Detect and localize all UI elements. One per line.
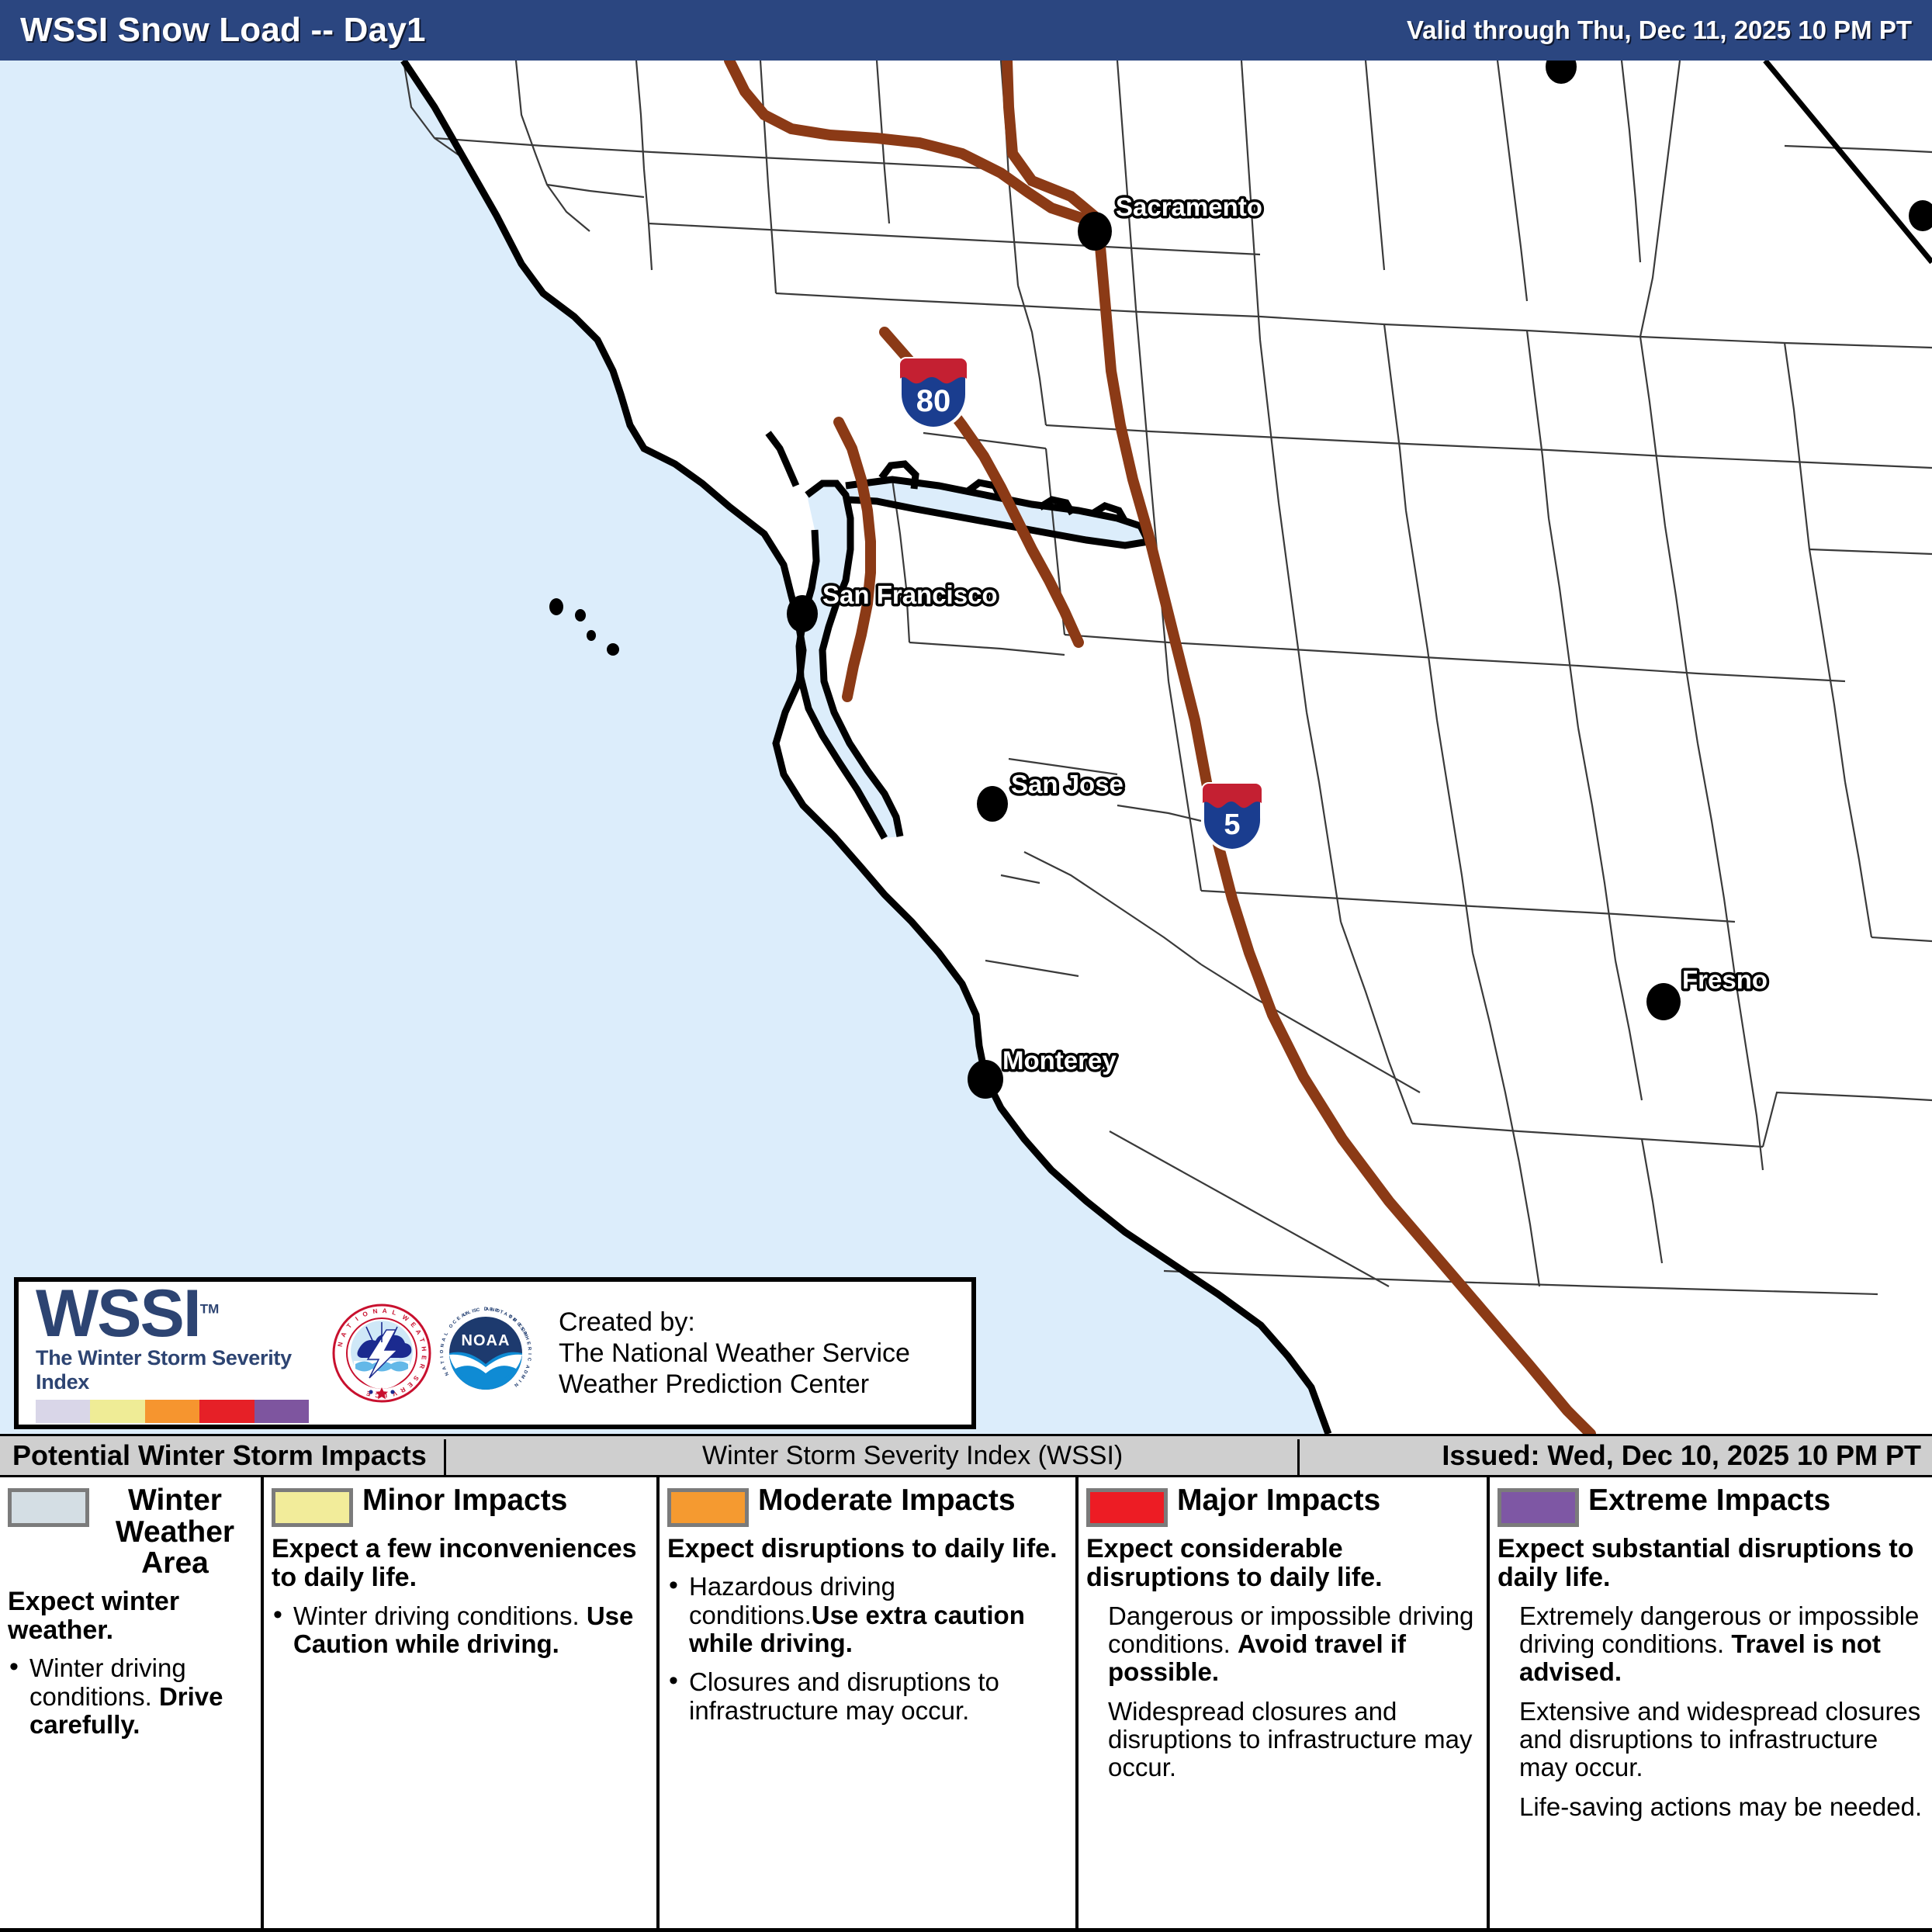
wssi-color-bar <box>36 1400 309 1423</box>
legend-bullet: Hazardous driving conditions.Use extra c… <box>667 1573 1066 1657</box>
national-weather-service-seal: N A T I O N A L W E A T H E R S E <box>332 1304 431 1403</box>
legend-column-winter-weather-area: Winter Weather Area Expect winter weathe… <box>0 1477 264 1928</box>
legend-title-major-impacts: Major Impacts <box>1177 1485 1380 1517</box>
city-label-san-jose: San Jose <box>1011 770 1124 798</box>
highway-shield-5: 5 <box>1203 784 1262 850</box>
legend-bullets-winter-weather-area: Winter driving conditions. Drive careful… <box>8 1654 251 1739</box>
svg-text:80: 80 <box>916 384 951 418</box>
legend-column-moderate-impacts: Moderate Impacts Expect disruptions to d… <box>660 1477 1079 1928</box>
legend-bullets-moderate-impacts: Hazardous driving conditions.Use extra c… <box>667 1573 1066 1724</box>
legend-title-winter-weather-area: Winter Weather Area <box>99 1485 251 1580</box>
legend-bullet: Extremely dangerous or impossible drivin… <box>1497 1602 1923 1687</box>
banner-center-text: Winter Storm Severity Index (WSSI) <box>702 1441 1123 1471</box>
title-bar: WSSI Snow Load -- Day1 Valid through Thu… <box>0 0 1932 61</box>
legend-bullet: Closures and disruptions to infrastructu… <box>667 1668 1066 1725</box>
city-label-sacramento: Sacramento <box>1116 192 1262 221</box>
created-by-line-1: Created by: <box>559 1307 910 1338</box>
wssi-map-page: WSSI Snow Load -- Day1 Valid through Thu… <box>0 0 1932 1932</box>
legend-summary-extreme-impacts: Expect substantial disruptions to daily … <box>1497 1535 1923 1593</box>
created-by-line-2: The National Weather Service <box>559 1338 910 1369</box>
banner-divider-1 <box>444 1439 446 1477</box>
legend-bullet: Life-saving actions may be needed. <box>1497 1793 1923 1821</box>
svg-text:H: H <box>420 1346 428 1352</box>
legend-bullets-minor-impacts: Winter driving conditions. Use Caution w… <box>272 1602 647 1659</box>
valid-through-text: Valid through Thu, Dec 11, 2025 10 PM PT <box>1407 16 1912 45</box>
svg-text:A: A <box>383 1307 388 1314</box>
legend-column-minor-impacts: Minor Impacts Expect a few inconvenience… <box>264 1477 660 1928</box>
legend-summary-minor-impacts: Expect a few inconveniences to daily lif… <box>272 1535 647 1593</box>
city-label-san-francisco: San Francisco <box>822 580 998 609</box>
created-by-block: Created by: The National Weather Service… <box>535 1307 910 1400</box>
legend-column-extreme-impacts: Extreme Impacts Expect substantial disru… <box>1490 1477 1932 1928</box>
svg-text:E: E <box>489 1307 493 1312</box>
legend-bullet: Dangerous or impossible driving conditio… <box>1086 1602 1477 1687</box>
legend-swatch-major-impacts <box>1086 1488 1168 1527</box>
legend-bullet: Widespread closures and disruptions to i… <box>1086 1698 1477 1782</box>
legend-swatch-moderate-impacts <box>667 1488 749 1527</box>
agency-seals: N A T I O N A L W E A T H E R S E <box>329 1304 535 1403</box>
highway-shield-80: 80 <box>900 358 967 428</box>
legend-summary-moderate-impacts: Expect disruptions to daily life. <box>667 1535 1066 1563</box>
wssi-logo-box: WSSITM The Winter Storm Severity Index <box>14 1277 976 1429</box>
legend-bullets-extreme-impacts: Extremely dangerous or impossible drivin… <box>1497 1602 1923 1821</box>
legend-column-major-impacts: Major Impacts Expect considerable disrup… <box>1079 1477 1490 1928</box>
svg-text:D: D <box>484 1307 488 1312</box>
wssi-brand: WSSITM The Winter Storm Severity Index <box>19 1283 329 1423</box>
city-label-monterey: Monterey <box>1002 1046 1117 1075</box>
legend-bullet: Winter driving conditions. Drive careful… <box>8 1654 251 1739</box>
city-label-fresno: Fresno <box>1682 965 1768 994</box>
legend-swatch-minor-impacts <box>272 1488 353 1527</box>
legend-swatch-extreme-impacts <box>1497 1488 1579 1527</box>
legend-header: Major Impacts <box>1086 1485 1477 1527</box>
map-graphic: 80 5 Sacramento San Francisco <box>0 61 1932 1434</box>
legend-title-extreme-impacts: Extreme Impacts <box>1588 1485 1830 1517</box>
svg-text:5: 5 <box>1224 808 1240 841</box>
legend-title-moderate-impacts: Moderate Impacts <box>758 1485 1016 1517</box>
legend-header: Winter Weather Area <box>8 1485 251 1580</box>
map-canvas[interactable]: 80 5 Sacramento San Francisco <box>0 61 1932 1434</box>
impacts-banner: Potential Winter Storm Impacts Winter St… <box>0 1434 1932 1477</box>
legend-summary-major-impacts: Expect considerable disruptions to daily… <box>1086 1535 1477 1593</box>
created-by-line-3: Weather Prediction Center <box>559 1369 910 1400</box>
legend-swatch-winter-weather-area <box>8 1488 89 1527</box>
svg-text:NOAA: NOAA <box>462 1332 511 1349</box>
legend-bullet: Winter driving conditions. Use Caution w… <box>272 1602 647 1659</box>
page-title: WSSI Snow Load -- Day1 <box>20 11 426 50</box>
legend-title-minor-impacts: Minor Impacts <box>362 1485 567 1517</box>
banner-left-text: Potential Winter Storm Impacts <box>12 1439 427 1472</box>
banner-right-text: Issued: Wed, Dec 10, 2025 10 PM PT <box>1442 1439 1921 1472</box>
noaa-seal: NOAA N A T I O N A L O C E A N I C <box>436 1304 535 1403</box>
impact-legend: Winter Weather Area Expect winter weathe… <box>0 1477 1932 1932</box>
legend-summary-winter-weather-area: Expect winter weather. <box>8 1587 251 1646</box>
wssi-wordmark: WSSITM <box>36 1283 219 1345</box>
legend-header: Extreme Impacts <box>1497 1485 1923 1527</box>
legend-bullets-major-impacts: Dangerous or impossible driving conditio… <box>1086 1602 1477 1782</box>
legend-bullet: Extensive and widespread closures and di… <box>1497 1698 1923 1782</box>
legend-header: Moderate Impacts <box>667 1485 1066 1527</box>
svg-text:O: O <box>440 1349 445 1353</box>
legend-header: Minor Impacts <box>272 1485 647 1527</box>
wssi-tagline: The Winter Storm Severity Index <box>36 1346 329 1394</box>
banner-divider-2 <box>1297 1439 1300 1477</box>
wssi-trademark: TM <box>200 1301 220 1316</box>
